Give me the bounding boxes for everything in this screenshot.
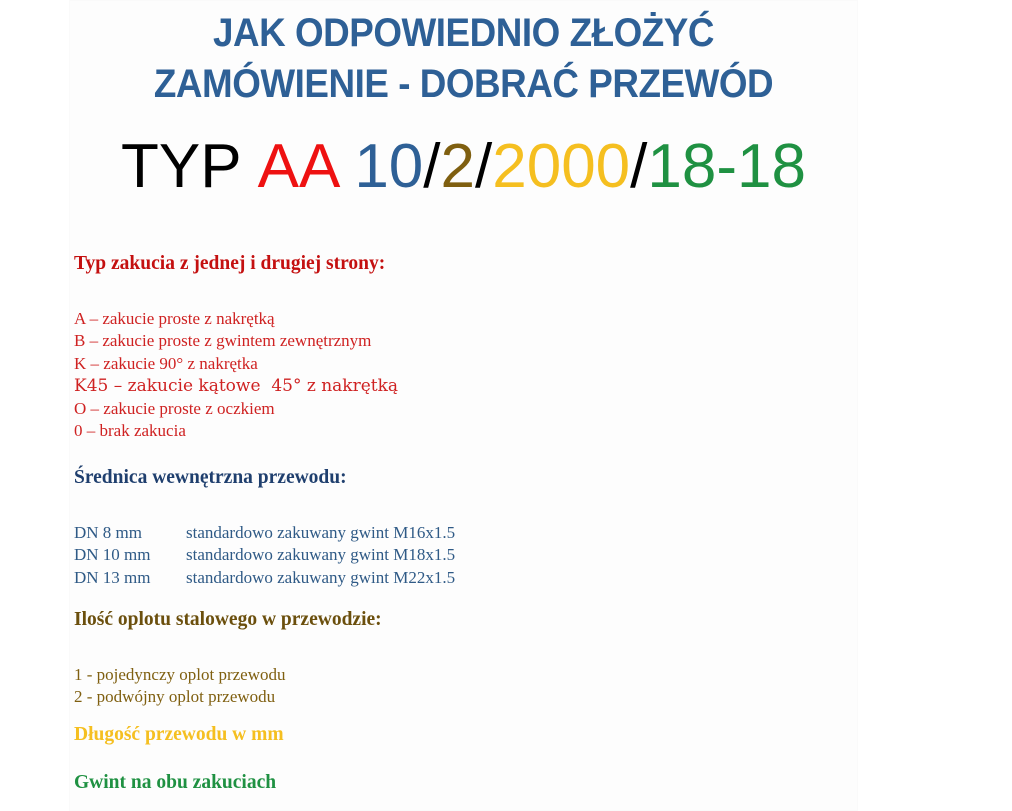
code-thread: 18-18 [647, 132, 806, 201]
code-inner-diameter: 10 [354, 132, 423, 201]
list-item: K – zakucie 90° z nakrętka [74, 353, 398, 376]
list-item: B – zakucie proste z gwintem zewnętrznym [74, 330, 398, 353]
code-separator-3: / [630, 132, 647, 201]
slide-page: JAK ODPOWIEDNIO ZŁOŻYĆ ZAMÓWIENIE - DOBR… [0, 0, 1012, 811]
list-item: 0 – brak zakucia [74, 420, 398, 443]
dn-value: standardowo zakuwany gwint M16x1.5 [186, 523, 455, 542]
code-end-type: AA [258, 132, 341, 201]
page-title-line-1: JAK ODPOWIEDNIO ZŁOŻYĆ [101, 8, 827, 59]
dn-value: standardowo zakuwany gwint M18x1.5 [186, 545, 455, 564]
section-braid: Ilość oplotu stalowego w przewodzie: 1 -… [74, 610, 382, 709]
page-title-line-2: ZAMÓWIENIE - DOBRAĆ PRZEWÓD [101, 59, 827, 110]
code-separator-1: / [423, 132, 440, 201]
dn-value: standardowo zakuwany gwint M22x1.5 [186, 568, 455, 587]
section-thread: Gwint na obu zakuciach [74, 773, 276, 793]
section-inner-diameter: Średnica wewnętrzna przewodu: DN 8 mmsta… [74, 468, 455, 589]
section-end-type-list: A – zakucie proste z nakrętką B – zakuci… [74, 308, 398, 443]
list-item: K45 – zakucie kątowe 45° z nakrętką [74, 375, 398, 398]
section-length-heading: Długość przewodu w mm [74, 725, 284, 745]
dn-label: DN 13 mm [74, 567, 186, 590]
section-length: Długość przewodu w mm [74, 725, 284, 745]
product-code-line: TYPAA10/2/2000/18-18 [69, 136, 858, 198]
section-end-type-heading: Typ zakucia z jednej i drugiej strony: [74, 254, 398, 274]
dn-label: DN 10 mm [74, 544, 186, 567]
section-inner-diameter-heading: Średnica wewnętrzna przewodu: [74, 468, 455, 488]
section-thread-heading: Gwint na obu zakuciach [74, 773, 276, 793]
code-braid-count: 2 [441, 132, 475, 201]
section-braid-heading: Ilość oplotu stalowego w przewodzie: [74, 610, 382, 630]
page-title: JAK ODPOWIEDNIO ZŁOŻYĆ ZAMÓWIENIE - DOBR… [101, 8, 827, 110]
section-braid-list: 1 - pojedynczy oplot przewodu 2 - podwój… [74, 664, 382, 709]
table-row: DN 10 mmstandardowo zakuwany gwint M18x1… [74, 544, 455, 567]
list-item: O – zakucie proste z oczkiem [74, 398, 398, 421]
code-separator-2: / [475, 132, 492, 201]
list-item: A – zakucie proste z nakrętką [74, 308, 398, 331]
dn-label: DN 8 mm [74, 522, 186, 545]
table-row: DN 8 mmstandardowo zakuwany gwint M16x1.… [74, 522, 455, 545]
section-inner-diameter-table: DN 8 mmstandardowo zakuwany gwint M16x1.… [74, 522, 455, 590]
code-label: TYP [121, 132, 242, 201]
section-end-type: Typ zakucia z jednej i drugiej strony: A… [74, 254, 398, 443]
list-item: 2 - podwójny oplot przewodu [74, 686, 382, 709]
code-length: 2000 [492, 132, 630, 201]
list-item: 1 - pojedynczy oplot przewodu [74, 664, 382, 687]
table-row: DN 13 mmstandardowo zakuwany gwint M22x1… [74, 567, 455, 590]
